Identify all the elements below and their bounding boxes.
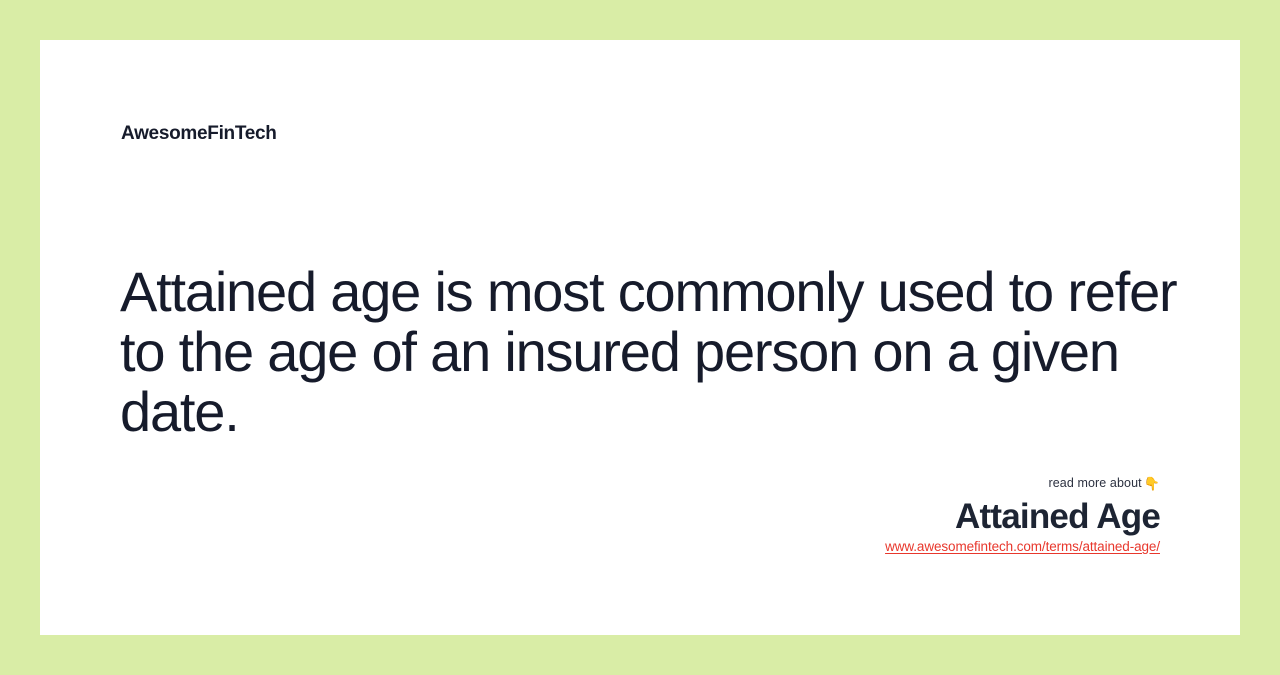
content-card: AwesomeFinTech Attained age is most comm…	[40, 40, 1240, 635]
read-more-label: read more about	[1048, 476, 1141, 490]
point-down-icon: 👇	[1144, 476, 1160, 492]
page-title: Attained age is most commonly used to re…	[120, 262, 1230, 442]
term-url-link[interactable]: www.awesomefintech.com/terms/attained-ag…	[885, 538, 1160, 556]
brand-logo-text: AwesomeFinTech	[121, 122, 277, 146]
term-title: Attained Age	[885, 496, 1160, 537]
read-more-row: read more about👇	[885, 475, 1160, 492]
footer-callout: read more about👇 Attained Age www.awesom…	[885, 475, 1160, 556]
slide-canvas: AwesomeFinTech Attained age is most comm…	[0, 0, 1280, 675]
